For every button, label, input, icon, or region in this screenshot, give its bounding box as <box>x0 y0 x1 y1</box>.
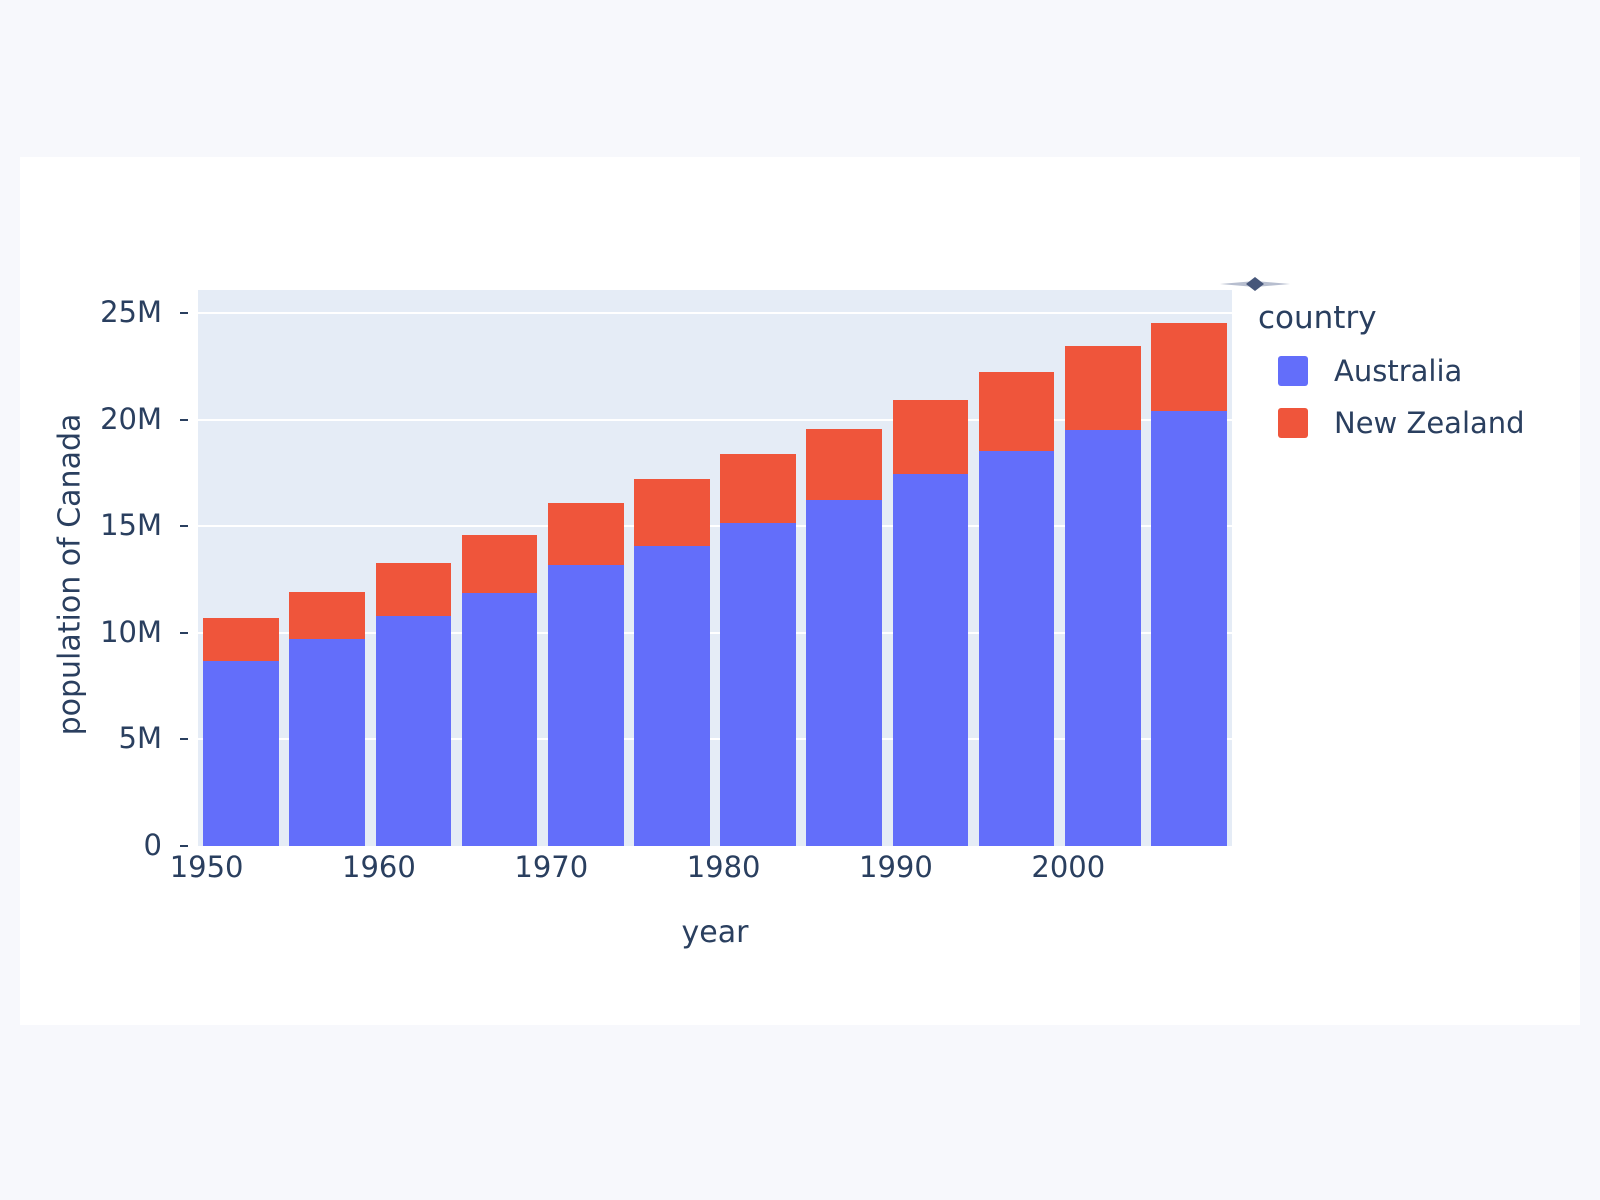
x-axis-tick-label: 1960 <box>342 850 416 884</box>
x-axis-tick-label: 1990 <box>859 850 933 884</box>
bar-segment-australia[interactable] <box>548 565 624 846</box>
bar-segment-new-zealand[interactable] <box>289 592 365 639</box>
bar-segment-new-zealand[interactable] <box>376 563 452 616</box>
x-axis-tick-label: 1980 <box>687 850 761 884</box>
bar-series-container <box>198 290 1232 846</box>
bar-segment-new-zealand[interactable] <box>893 400 969 473</box>
bar-segment-australia[interactable] <box>289 639 365 846</box>
legend-swatch <box>1278 408 1308 438</box>
chart-card: 05M10M15M20M25M 195019601970198019902000… <box>20 157 1580 1025</box>
bar-group[interactable] <box>979 290 1055 846</box>
bar-segment-new-zealand[interactable] <box>548 503 624 565</box>
x-axis-ticks: 195019601970198019902000 <box>198 850 1232 910</box>
bar-segment-australia[interactable] <box>979 451 1055 846</box>
bar-segment-new-zealand[interactable] <box>720 454 796 522</box>
bar-group[interactable] <box>289 290 365 846</box>
bar-group[interactable] <box>462 290 538 846</box>
y-axis-tick-label: 25M <box>100 298 162 327</box>
x-axis-tick-label: 1970 <box>514 850 588 884</box>
bar-segment-australia[interactable] <box>720 523 796 846</box>
y-axis-tick-label: 5M <box>119 724 162 753</box>
y-axis-tick-label: 10M <box>100 618 162 647</box>
bar-segment-australia[interactable] <box>634 546 710 846</box>
legend: country AustraliaNew Zealand <box>1258 290 1558 458</box>
bar-segment-new-zealand[interactable] <box>806 429 882 500</box>
legend-swatch <box>1278 356 1308 386</box>
bar-segment-australia[interactable] <box>1065 430 1141 846</box>
bar-group[interactable] <box>1065 290 1141 846</box>
y-axis-tick-label: 20M <box>100 405 162 434</box>
bar-group[interactable] <box>203 290 279 846</box>
y-axis-tick-mark <box>180 845 188 847</box>
bar-segment-new-zealand[interactable] <box>203 618 279 660</box>
bar-group[interactable] <box>893 290 969 846</box>
bar-group[interactable] <box>634 290 710 846</box>
bar-segment-australia[interactable] <box>806 500 882 846</box>
legend-label: New Zealand <box>1334 406 1525 440</box>
y-axis-title: population of Canada <box>53 405 88 745</box>
legend-label: Australia <box>1334 354 1462 388</box>
y-axis-tick-label: 0 <box>144 831 162 860</box>
x-axis-title: year <box>198 915 1232 950</box>
legend-title: country <box>1258 300 1558 336</box>
bar-segment-australia[interactable] <box>203 661 279 846</box>
y-axis-ticks: 05M10M15M20M25M <box>20 290 188 846</box>
bar-segment-new-zealand[interactable] <box>634 479 710 546</box>
y-axis-tick-mark <box>180 738 188 740</box>
bar-segment-new-zealand[interactable] <box>462 535 538 593</box>
y-axis-tick-mark <box>180 312 188 314</box>
y-axis-tick-label: 15M <box>100 511 162 540</box>
bar-group[interactable] <box>548 290 624 846</box>
plotly-figure: 05M10M15M20M25M 195019601970198019902000… <box>20 157 1580 1025</box>
y-axis-tick-mark <box>180 419 188 421</box>
x-axis-tick-label: 2000 <box>1031 850 1105 884</box>
bar-segment-australia[interactable] <box>893 474 969 846</box>
bar-segment-new-zealand[interactable] <box>979 372 1055 450</box>
y-axis-tick-mark <box>180 632 188 634</box>
bar-group[interactable] <box>1151 290 1227 846</box>
bar-segment-australia[interactable] <box>1151 411 1227 846</box>
plot-area <box>198 290 1232 846</box>
legend-item-new-zealand[interactable]: New Zealand <box>1278 406 1558 440</box>
legend-entries: AustraliaNew Zealand <box>1258 354 1558 440</box>
bar-group[interactable] <box>806 290 882 846</box>
y-axis-tick-mark <box>180 525 188 527</box>
bar-segment-australia[interactable] <box>462 593 538 846</box>
bar-segment-new-zealand[interactable] <box>1151 323 1227 411</box>
bar-segment-australia[interactable] <box>376 616 452 846</box>
bar-segment-new-zealand[interactable] <box>1065 346 1141 429</box>
bar-group[interactable] <box>376 290 452 846</box>
legend-item-australia[interactable]: Australia <box>1278 354 1558 388</box>
bar-group[interactable] <box>720 290 796 846</box>
x-axis-tick-label: 1950 <box>170 850 244 884</box>
